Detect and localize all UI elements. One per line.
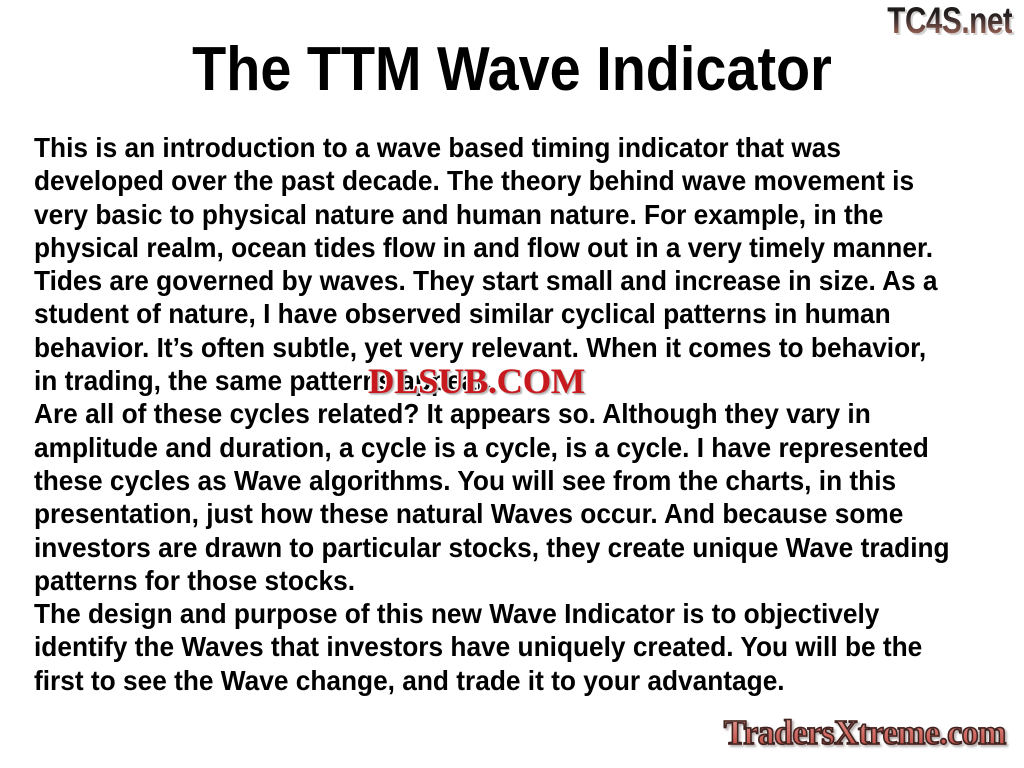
presentation-slide: TC4S.net TC4S.net The TTM Wave Indicator… [0, 0, 1024, 768]
watermark-dlsub: DLSUB.COM [368, 363, 585, 399]
footer-logo-tradersxtreme: TradersXtreme.com [724, 714, 1006, 752]
page-title: The TTM Wave Indicator [51, 36, 973, 104]
body-paragraph-2: Are all of these cycles related? It appe… [34, 397, 951, 597]
body-paragraph-3: The design and purpose of this new Wave … [34, 597, 951, 697]
body-paragraph-1: This is an introduction to a wave based … [34, 131, 951, 397]
body-text-block: This is an introduction to a wave based … [34, 131, 951, 697]
